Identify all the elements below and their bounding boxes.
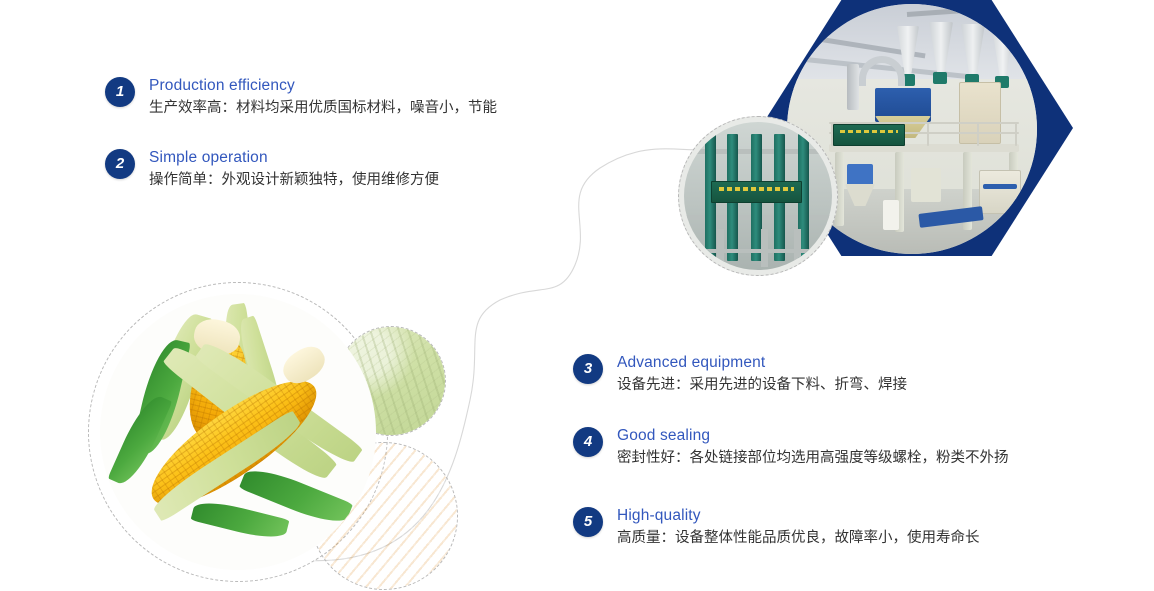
factory-banner	[833, 124, 905, 146]
feature-badge-5: 5	[573, 507, 603, 537]
feature-item-4[interactable]: 4 Good sealing 密封性好：各处链接部位均选用高强度等级螺栓，粉类不…	[573, 426, 1009, 469]
feature-title-2: Simple operation	[149, 148, 439, 168]
feature-title-3: Advanced equipment	[617, 353, 907, 373]
feature-title-4: Good sealing	[617, 426, 1009, 446]
feature-badge-4: 4	[573, 427, 603, 457]
feature-title-1: Production efficiency	[149, 76, 497, 96]
feature-desc-3: 设备先进：采用先进的设备下料、折弯、焊接	[617, 374, 907, 396]
feature-text-2: Simple operation 操作简单：外观设计新颖独特，使用维修方便	[149, 148, 439, 191]
feature-badge-2: 2	[105, 149, 135, 179]
feature-item-2[interactable]: 2 Simple operation 操作简单：外观设计新颖独特，使用维修方便	[105, 148, 439, 191]
feature-title-5: High-quality	[617, 506, 980, 526]
feature-desc-2: 操作简单：外观设计新颖独特，使用维修方便	[149, 169, 439, 191]
feature-infographic: 1 Production efficiency 生产效率高：材料均采用优质国标材…	[0, 0, 1154, 591]
feature-item-1[interactable]: 1 Production efficiency 生产效率高：材料均采用优质国标材…	[105, 76, 497, 119]
feature-text-3: Advanced equipment 设备先进：采用先进的设备下料、折弯、焊接	[617, 353, 907, 396]
feature-text-5: High-quality 高质量：设备整体性能品质优良，故障率小，使用寿命长	[617, 506, 980, 549]
feature-text-1: Production efficiency 生产效率高：材料均采用优质国标材料，…	[149, 76, 497, 119]
feature-desc-1: 生产效率高：材料均采用优质国标材料，噪音小，节能	[149, 97, 497, 119]
feature-item-5[interactable]: 5 High-quality 高质量：设备整体性能品质优良，故障率小，使用寿命长	[573, 506, 980, 549]
feature-text-4: Good sealing 密封性好：各处链接部位均选用高强度等级螺栓，粉类不外扬	[617, 426, 1009, 469]
feature-desc-5: 高质量：设备整体性能品质优良，故障率小，使用寿命长	[617, 527, 980, 549]
feature-badge-3: 3	[573, 354, 603, 384]
feature-badge-1: 1	[105, 77, 135, 107]
feature-desc-4: 密封性好：各处链接部位均选用高强度等级螺栓，粉类不外扬	[617, 447, 1009, 469]
corn-photo-group	[88, 282, 488, 591]
teal-milling-machinery-photo	[678, 116, 838, 276]
feature-item-3[interactable]: 3 Advanced equipment 设备先进：采用先进的设备下料、折弯、焊…	[573, 353, 907, 396]
corn-cob-photo	[100, 294, 376, 570]
